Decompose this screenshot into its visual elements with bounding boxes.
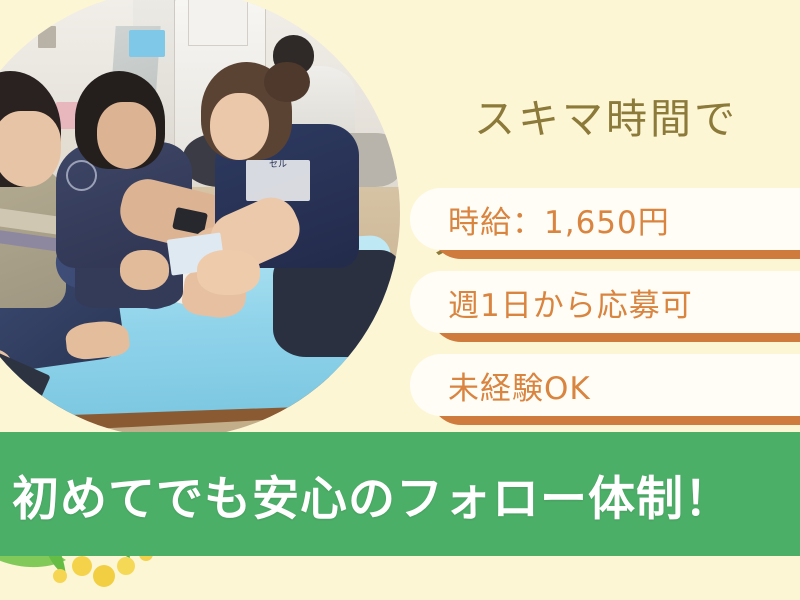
ad-banner: セル スキマ時間で スキルアップ！ 時給：1,650円 週1日から応募可 <box>0 0 800 600</box>
benefit-pill-shift-frequency: 週1日から応募可 <box>410 271 800 333</box>
pill-body: 時給：1,650円 <box>410 188 800 250</box>
photo-person-b-face <box>97 102 156 169</box>
follow-up-banner-text: 初めてでも安心のフォロー体制！ <box>0 460 732 529</box>
photo-wall-sign <box>38 26 56 48</box>
pill-body: 週1日から応募可 <box>410 271 800 333</box>
follow-up-banner: 初めてでも安心のフォロー体制！ <box>0 432 800 556</box>
photo-scene: セル <box>0 0 400 438</box>
training-photo: セル <box>0 0 400 438</box>
pill-label: 時給：1,650円 <box>410 197 670 242</box>
photo-person-b-hand-2 <box>120 250 170 290</box>
benefit-pill-list: 時給：1,650円 週1日から応募可 未経験OK <box>410 188 800 437</box>
photo-person-c-hand <box>197 250 260 295</box>
photo-uniform-logo: セル <box>246 160 309 200</box>
headline-line-1: スキマ時間で <box>432 89 792 150</box>
photo-person-c-bun <box>264 62 309 102</box>
photo-blue-notice <box>129 30 165 57</box>
pill-label: 週1日から応募可 <box>410 280 693 325</box>
benefit-pill-no-experience: 未経験OK <box>410 354 800 416</box>
photo-poster <box>188 0 249 46</box>
pill-label: 未経験OK <box>410 363 591 408</box>
pill-body: 未経験OK <box>410 354 800 416</box>
benefit-pill-hourly-wage: 時給：1,650円 <box>410 188 800 250</box>
photo-person-b-patch <box>66 160 97 191</box>
